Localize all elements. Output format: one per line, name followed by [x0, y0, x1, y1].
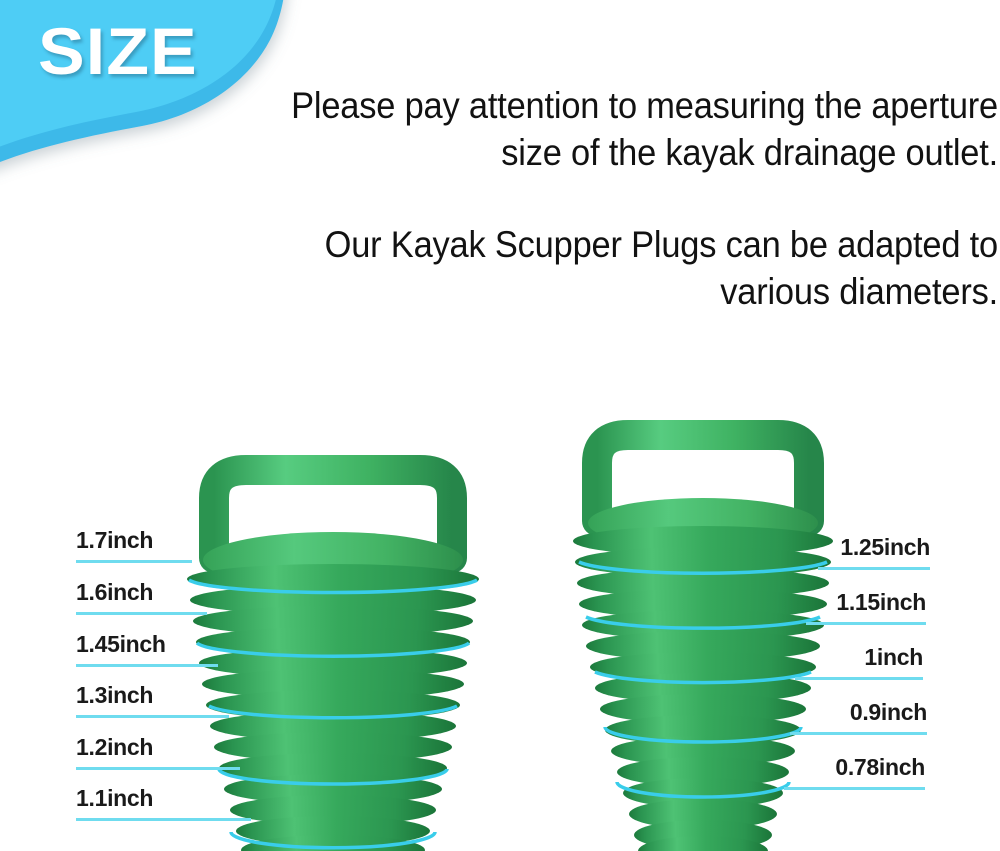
measure-label-1-3: 1.3inch [76, 684, 153, 707]
measure-rule-1-3 [76, 715, 229, 718]
measure-rule-1-2 [76, 767, 240, 770]
measure-label-1-15: 1.15inch [706, 591, 926, 614]
size-infographic: SIZE Please pay attention to measuring t… [0, 0, 1000, 851]
copy-paragraph-1: Please pay attention to measuring the ap… [263, 82, 998, 177]
measure-rule-0-9 [790, 732, 927, 735]
rib-stack [187, 564, 479, 851]
measure-label-0-78: 0.78inch [705, 756, 925, 779]
measure-label-1-6: 1.6inch [76, 581, 153, 604]
large-plug-illustration [168, 440, 498, 851]
measure-label-1-2: 1.2inch [76, 736, 153, 759]
headline-copy: Please pay attention to measuring the ap… [208, 82, 998, 315]
measure-label-0-9: 0.9inch [707, 701, 927, 724]
measure-label-1-45: 1.45inch [76, 633, 166, 656]
measure-rule-0-78 [784, 787, 925, 790]
measure-rule-1-6 [76, 612, 207, 615]
measure-label-1-1: 1.1inch [76, 787, 153, 810]
copy-paragraph-2: Our Kayak Scupper Plugs can be adapted t… [263, 221, 998, 316]
small-plug-illustration [552, 409, 852, 851]
size-badge-label: SIZE [38, 18, 271, 84]
measure-rule-1-45 [76, 664, 218, 667]
measure-label-1: 1inch [703, 646, 923, 669]
measure-rule-1-1 [76, 818, 251, 821]
measure-label-1-25: 1.25inch [710, 536, 930, 559]
measure-rule-1-15 [806, 622, 926, 625]
measure-rule-1 [795, 677, 923, 680]
measure-rule-1-7 [76, 560, 192, 563]
measure-rule-1-25 [818, 567, 930, 570]
measure-label-1-7: 1.7inch [76, 529, 153, 552]
